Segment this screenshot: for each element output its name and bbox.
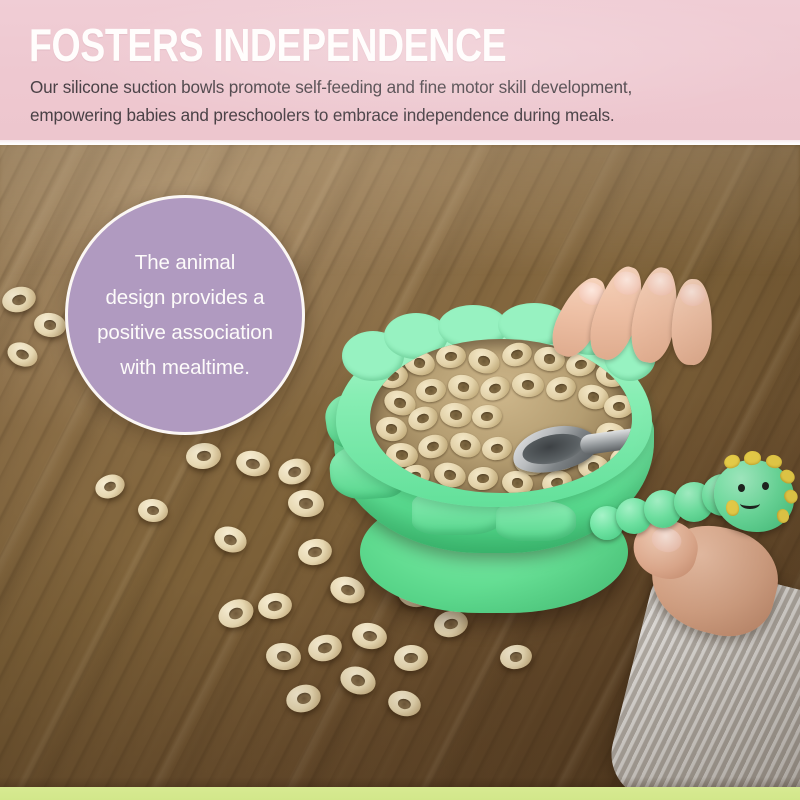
callout-line-3: positive association bbox=[78, 315, 292, 350]
header-subtitle-line-2: empowering babies and preschoolers to em… bbox=[30, 102, 767, 130]
header-subtitle-line-1: Our silicone suction bowls promote self-… bbox=[30, 74, 767, 102]
header-banner: FOSTERS INDEPENDENCE Our silicone suctio… bbox=[0, 0, 800, 140]
callout-text: The animal design provides a positive as… bbox=[78, 245, 292, 385]
callout-bubble: The animal design provides a positive as… bbox=[65, 195, 305, 435]
callout-line-4: with mealtime. bbox=[78, 350, 292, 385]
callout-line-2: design provides a bbox=[78, 280, 292, 315]
callout-line-1: The animal bbox=[78, 245, 292, 280]
footer-accent-strip bbox=[0, 787, 800, 800]
photo-bottom-shadow bbox=[0, 777, 800, 787]
page-title: FOSTERS INDEPENDENCE bbox=[29, 22, 506, 68]
product-feature-poster: FOSTERS INDEPENDENCE Our silicone suctio… bbox=[0, 0, 800, 800]
header-subtitle: Our silicone suction bowls promote self-… bbox=[30, 74, 767, 129]
